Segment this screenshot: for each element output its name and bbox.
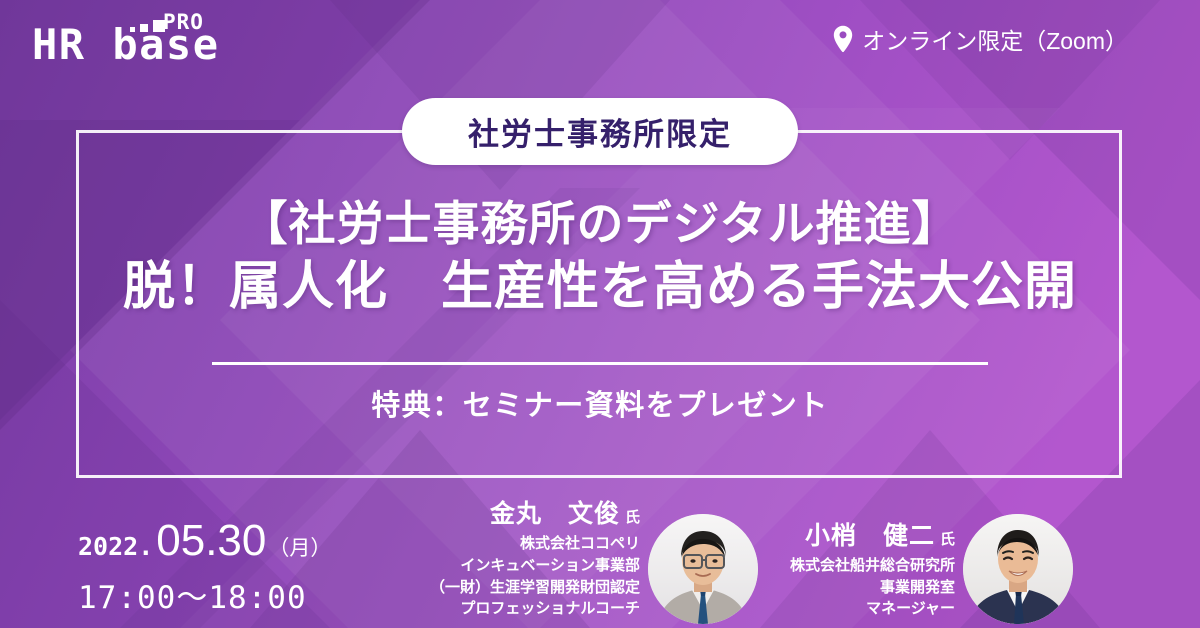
location-text: オンライン限定（Zoom） xyxy=(862,22,1128,56)
audience-badge: 社労士事務所限定 xyxy=(402,98,798,165)
speaker-name: 金丸 文俊 xyxy=(490,500,620,528)
benefit-text: 特典：セミナー資料をプレゼント xyxy=(0,382,1200,424)
date-line: 2022. 05.30 （月） xyxy=(78,516,331,566)
speaker-affiliation-line: 株式会社船井総合研究所 xyxy=(790,555,955,577)
title-block: 【社労士事務所のデジタル推進】 脱！属人化 生産性を高める手法大公開 xyxy=(0,196,1200,320)
time-range: 17:00〜18:00 xyxy=(78,572,331,617)
speaker-info: 金丸 文俊氏 株式会社ココペリ インキュベーション事業部 （一財）生涯学習開発財… xyxy=(430,494,640,628)
date-year: 2022. xyxy=(78,532,153,561)
speaker-affiliation-line: 事業開発室 xyxy=(790,577,955,599)
speaker-affiliation-line: インキュベーション事業部 xyxy=(430,555,640,577)
speaker-name-line: 小梢 健二氏 xyxy=(790,516,955,552)
speaker-affiliation-line: プロフェッショナルコーチ xyxy=(430,598,640,620)
date-day-of-week: （月） xyxy=(268,532,331,562)
seminar-banner: PRO HR base オンライン限定（Zoom） 社労士事務所限定 【社労士事… xyxy=(0,0,1200,628)
location-label: オンライン限定（Zoom） xyxy=(832,22,1128,56)
title-divider xyxy=(212,362,988,365)
location-pin-icon xyxy=(832,25,854,53)
speaker-block: 金丸 文俊氏 株式会社ココペリ インキュベーション事業部 （一財）生涯学習開発財… xyxy=(430,494,758,628)
speaker-honorific: 氏 xyxy=(625,509,640,526)
schedule-block: 2022. 05.30 （月） 17:00〜18:00 xyxy=(78,516,331,617)
speaker-block: 小梢 健二氏 株式会社船井総合研究所 事業開発室 マネージャー xyxy=(790,514,1073,628)
speaker-name: 小梢 健二 xyxy=(805,522,935,550)
avatar xyxy=(648,514,758,624)
speaker-honorific: 氏 xyxy=(940,531,955,548)
speaker-name-line: 金丸 文俊氏 xyxy=(430,494,640,530)
speaker-affiliation-line: 株式会社ココペリ xyxy=(430,533,640,555)
speaker-affiliation-line: （一財）生涯学習開発財団認定 xyxy=(430,577,640,599)
hrbase-pro-logo: PRO HR base xyxy=(30,10,240,72)
speaker-info: 小梢 健二氏 株式会社船井総合研究所 事業開発室 マネージャー xyxy=(790,516,955,628)
speaker-affiliation-line: マネージャー xyxy=(790,598,955,620)
avatar xyxy=(963,514,1073,624)
date-day: 05.30 xyxy=(156,516,266,566)
logo-main-text: HR base xyxy=(32,24,220,66)
title-line-1: 【社労士事務所のデジタル推進】 xyxy=(0,196,1200,251)
title-line-2: 脱！属人化 生産性を高める手法大公開 xyxy=(0,255,1200,320)
